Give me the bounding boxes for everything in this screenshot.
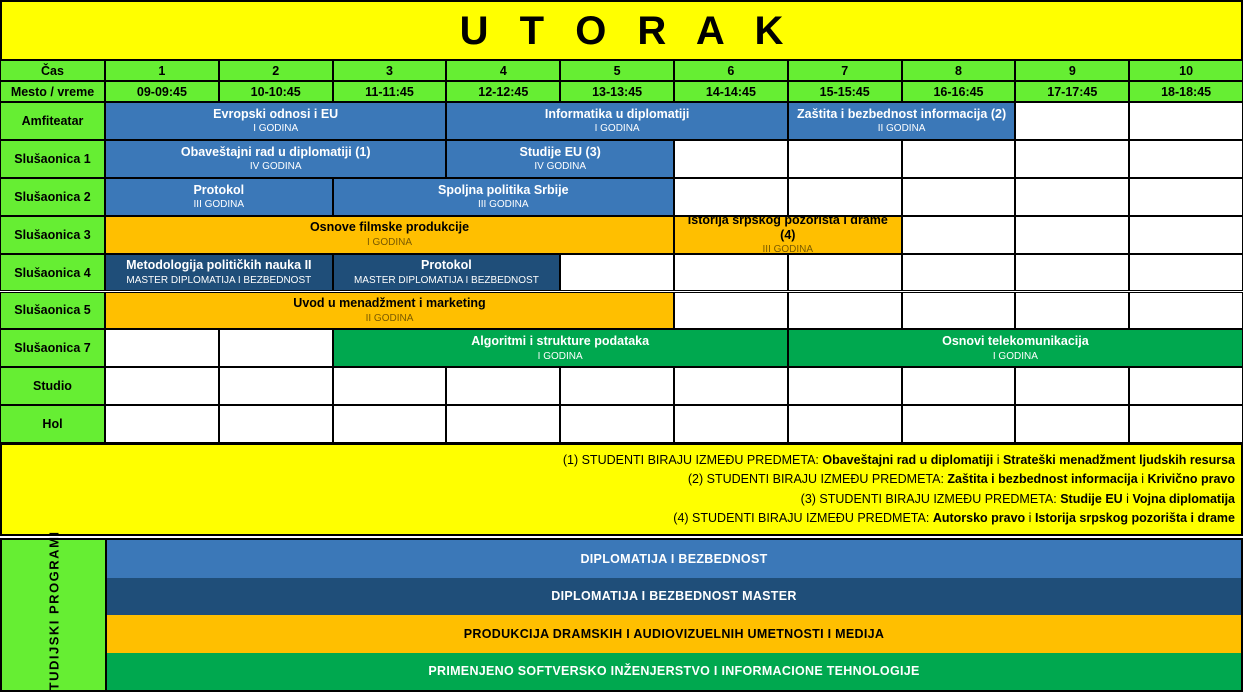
course-block[interactable]: Evropski odnosi i EUI GODINA xyxy=(105,102,446,140)
slot-empty[interactable] xyxy=(1015,216,1129,254)
header-period-6: 6 xyxy=(674,60,788,81)
header-time-7: 15-15:45 xyxy=(788,81,902,102)
slot-empty[interactable] xyxy=(560,254,674,292)
slot-empty[interactable] xyxy=(333,405,447,443)
room-label-6: Slušaonica 7 xyxy=(0,329,105,367)
course-block[interactable]: Osnove filmske produkcijeI GODINA xyxy=(105,216,674,254)
slot-empty[interactable] xyxy=(446,367,560,405)
timetable-page: U T O R A K Čas12345678910Mesto / vreme0… xyxy=(0,0,1243,692)
footnote-option-b: Krivično pravo xyxy=(1147,472,1235,486)
legend-side-label-box: STUDIJSKI PROGRAMI xyxy=(2,540,107,690)
room-label-7: Studio xyxy=(0,367,105,405)
slot-empty[interactable] xyxy=(902,367,1016,405)
footnote-option-b: Strateški menadžment ljudskih resursa xyxy=(1003,453,1235,467)
course-block[interactable]: Studije EU (3)IV GODINA xyxy=(446,140,674,178)
slot-empty[interactable] xyxy=(219,367,333,405)
slot-empty[interactable] xyxy=(674,178,788,216)
slot-empty[interactable] xyxy=(902,254,1016,292)
footnote-prefix: (2) STUDENTI BIRAJU IZMEĐU PREDMETA: xyxy=(688,472,948,486)
slot-empty[interactable] xyxy=(788,140,902,178)
legend-vertical-label: STUDIJSKI PROGRAMI xyxy=(46,530,61,692)
slot-empty[interactable] xyxy=(560,367,674,405)
header-period-7: 7 xyxy=(788,60,902,81)
footnote-option-b: Vojna diplomatija xyxy=(1132,492,1235,506)
slot-empty[interactable] xyxy=(1129,292,1243,330)
course-block[interactable]: Istorija srpskog pozorišta i drame (4)II… xyxy=(674,216,902,254)
slot-empty[interactable] xyxy=(219,405,333,443)
course-name: Evropski odnosi i EU xyxy=(213,107,338,121)
slot-empty[interactable] xyxy=(902,405,1016,443)
course-year: II GODINA xyxy=(878,123,926,135)
course-block[interactable]: Spoljna politika SrbijeIII GODINA xyxy=(333,178,674,216)
slot-empty[interactable] xyxy=(902,216,1016,254)
header-time-5: 13-13:45 xyxy=(560,81,674,102)
room-label-4: Slušaonica 4 xyxy=(0,254,105,292)
course-name: Spoljna politika Srbije xyxy=(438,183,569,197)
footnote-line-1: (1) STUDENTI BIRAJU IZMEĐU PREDMETA: Oba… xyxy=(563,451,1235,470)
header-period-5: 5 xyxy=(560,60,674,81)
course-block[interactable]: Algoritmi i strukture podatakaI GODINA xyxy=(333,329,788,367)
room-label-0: Amfiteatar xyxy=(0,102,105,140)
schedule-grid: Čas12345678910Mesto / vreme09-09:4510-10… xyxy=(0,60,1243,443)
course-name: Informatika u diplomatiji xyxy=(545,107,689,121)
footnote-line-3: (3) STUDENTI BIRAJU IZMEĐU PREDMETA: Stu… xyxy=(801,490,1235,509)
header-period-1: 1 xyxy=(105,60,219,81)
course-year: I GODINA xyxy=(367,237,412,249)
slot-empty[interactable] xyxy=(1129,216,1243,254)
course-block[interactable]: Obaveštajni rad u diplomatiji (1)IV GODI… xyxy=(105,140,446,178)
course-name: Obaveštajni rad u diplomatiji (1) xyxy=(181,145,371,159)
course-year: III GODINA xyxy=(763,244,814,254)
header-time-1: 09-09:45 xyxy=(105,81,219,102)
slot-empty[interactable] xyxy=(902,292,1016,330)
slot-empty[interactable] xyxy=(1129,367,1243,405)
course-block[interactable]: ProtokolMASTER DIPLOMATIJA I BEZBEDNOST xyxy=(333,254,561,292)
footnote-option-a: Obaveštajni rad u diplomatiji xyxy=(822,453,993,467)
course-year: I GODINA xyxy=(253,123,298,135)
header-time-2: 10-10:45 xyxy=(219,81,333,102)
course-year: IV GODINA xyxy=(534,161,586,173)
course-block[interactable]: Informatika u diplomatijiI GODINA xyxy=(446,102,787,140)
course-name: Osnove filmske produkcije xyxy=(310,220,469,234)
course-year: MASTER DIPLOMATIJA I BEZBEDNOST xyxy=(126,275,311,287)
header-period-3: 3 xyxy=(333,60,447,81)
slot-empty[interactable] xyxy=(1015,405,1129,443)
footnote-conjunction: i xyxy=(1123,492,1133,506)
slot-empty[interactable] xyxy=(1129,254,1243,292)
course-year: I GODINA xyxy=(595,123,640,135)
course-block[interactable]: Metodologija političkih nauka IIMASTER D… xyxy=(105,254,333,292)
header-time-6: 14-14:45 xyxy=(674,81,788,102)
slot-empty[interactable] xyxy=(1129,405,1243,443)
footnotes-panel: (1) STUDENTI BIRAJU IZMEĐU PREDMETA: Oba… xyxy=(0,443,1243,536)
legend-row-label: DIPLOMATIJA I BEZBEDNOST xyxy=(580,552,767,566)
course-name: Protokol xyxy=(193,183,244,197)
slot-empty[interactable] xyxy=(446,405,560,443)
header-time-9: 17-17:45 xyxy=(1015,81,1129,102)
course-block[interactable]: Uvod u menadžment i marketingII GODINA xyxy=(105,292,674,330)
footnote-option-a: Autorsko pravo xyxy=(933,511,1025,525)
course-name: Zaštita i bezbednost informacija (2) xyxy=(797,107,1006,121)
footnote-line-4: (4) STUDENTI BIRAJU IZMEĐU PREDMETA: Aut… xyxy=(673,509,1235,528)
room-label-1: Slušaonica 1 xyxy=(0,140,105,178)
footnote-prefix: (4) STUDENTI BIRAJU IZMEĐU PREDMETA: xyxy=(673,511,933,525)
slot-empty[interactable] xyxy=(1015,178,1129,216)
course-block[interactable]: Zaštita i bezbednost informacija (2)II G… xyxy=(788,102,1016,140)
study-programs-legend: STUDIJSKI PROGRAMI DIPLOMATIJA I BEZBEDN… xyxy=(0,538,1243,692)
slot-empty[interactable] xyxy=(1015,102,1129,140)
course-year: I GODINA xyxy=(538,351,583,363)
room-label-8: Hol xyxy=(0,405,105,443)
header-period-10: 10 xyxy=(1129,60,1243,81)
legend-row-0: DIPLOMATIJA I BEZBEDNOST xyxy=(107,540,1241,578)
slot-empty[interactable] xyxy=(105,405,219,443)
legend-row-label: PRODUKCIJA DRAMSKIH I AUDIOVIZUELNIH UME… xyxy=(464,627,884,641)
course-name: Protokol xyxy=(421,258,472,272)
course-year: II GODINA xyxy=(366,313,414,325)
header-period-2: 2 xyxy=(219,60,333,81)
header-time-10: 18-18:45 xyxy=(1129,81,1243,102)
header-time-8: 16-16:45 xyxy=(902,81,1016,102)
day-title-bar: U T O R A K xyxy=(0,0,1243,60)
slot-empty[interactable] xyxy=(674,254,788,292)
room-label-3: Slušaonica 3 xyxy=(0,216,105,254)
slot-empty[interactable] xyxy=(788,405,902,443)
header-place-time-label: Mesto / vreme xyxy=(0,81,105,102)
header-time-4: 12-12:45 xyxy=(446,81,560,102)
legend-row-label: PRIMENJENO SOFTVERSKO INŽENJERSTVO I INF… xyxy=(428,664,919,678)
course-name: Algoritmi i strukture podataka xyxy=(471,334,649,348)
footnote-conjunction: i xyxy=(1138,472,1148,486)
room-label-2: Slušaonica 2 xyxy=(0,178,105,216)
course-year: III GODINA xyxy=(194,199,245,211)
course-year: III GODINA xyxy=(478,199,529,211)
course-block[interactable]: Osnovi telekomunikacijaI GODINA xyxy=(788,329,1243,367)
footnote-option-b: Istorija srpskog pozorišta i drame xyxy=(1035,511,1235,525)
slot-empty[interactable] xyxy=(674,140,788,178)
footnote-prefix: (1) STUDENTI BIRAJU IZMEĐU PREDMETA: xyxy=(563,453,823,467)
slot-empty[interactable] xyxy=(902,140,1016,178)
slot-empty[interactable] xyxy=(788,178,902,216)
slot-empty[interactable] xyxy=(788,254,902,292)
footnote-conjunction: i xyxy=(1025,511,1035,525)
slot-empty[interactable] xyxy=(1015,367,1129,405)
course-block[interactable]: ProtokolIII GODINA xyxy=(105,178,333,216)
footnote-prefix: (3) STUDENTI BIRAJU IZMEĐU PREDMETA: xyxy=(801,492,1061,506)
slot-empty[interactable] xyxy=(902,178,1016,216)
slot-empty[interactable] xyxy=(1015,254,1129,292)
course-name: Uvod u menadžment i marketing xyxy=(293,296,485,310)
header-time-3: 11-11:45 xyxy=(333,81,447,102)
slot-empty[interactable] xyxy=(105,367,219,405)
legend-rows: DIPLOMATIJA I BEZBEDNOSTDIPLOMATIJA I BE… xyxy=(107,540,1241,690)
slot-empty[interactable] xyxy=(219,329,333,367)
course-name: Studije EU (3) xyxy=(520,145,601,159)
slot-empty[interactable] xyxy=(674,405,788,443)
slot-empty[interactable] xyxy=(788,367,902,405)
slot-empty[interactable] xyxy=(333,367,447,405)
header-period-8: 8 xyxy=(902,60,1016,81)
footnote-option-a: Studije EU xyxy=(1060,492,1123,506)
slot-empty[interactable] xyxy=(1015,292,1129,330)
slot-empty[interactable] xyxy=(788,292,902,330)
course-year: IV GODINA xyxy=(250,161,302,173)
course-year: MASTER DIPLOMATIJA I BEZBEDNOST xyxy=(354,275,539,287)
slot-empty[interactable] xyxy=(1015,140,1129,178)
slot-empty[interactable] xyxy=(105,329,219,367)
footnote-line-2: (2) STUDENTI BIRAJU IZMEĐU PREDMETA: Zaš… xyxy=(688,470,1235,489)
header-period-label: Čas xyxy=(0,60,105,81)
footnote-option-a: Zaštita i bezbednost informacija xyxy=(947,472,1137,486)
course-name: Metodologija političkih nauka II xyxy=(126,258,311,272)
header-period-4: 4 xyxy=(446,60,560,81)
slot-empty[interactable] xyxy=(674,367,788,405)
slot-empty[interactable] xyxy=(1129,178,1243,216)
room-label-5: Slušaonica 5 xyxy=(0,292,105,330)
legend-row-2: PRODUKCIJA DRAMSKIH I AUDIOVIZUELNIH UME… xyxy=(107,615,1241,653)
slot-empty[interactable] xyxy=(1129,140,1243,178)
header-period-9: 9 xyxy=(1015,60,1129,81)
footnote-conjunction: i xyxy=(993,453,1003,467)
legend-row-label: DIPLOMATIJA I BEZBEDNOST MASTER xyxy=(551,589,796,603)
slot-empty[interactable] xyxy=(560,405,674,443)
course-name: Osnovi telekomunikacija xyxy=(942,334,1089,348)
legend-row-1: DIPLOMATIJA I BEZBEDNOST MASTER xyxy=(107,578,1241,616)
slot-empty[interactable] xyxy=(674,292,788,330)
slot-empty[interactable] xyxy=(1129,102,1243,140)
legend-row-3: PRIMENJENO SOFTVERSKO INŽENJERSTVO I INF… xyxy=(107,653,1241,691)
page-title: U T O R A K xyxy=(450,11,794,51)
course-year: I GODINA xyxy=(993,351,1038,363)
course-name: Istorija srpskog pozorišta i drame (4) xyxy=(679,216,897,242)
